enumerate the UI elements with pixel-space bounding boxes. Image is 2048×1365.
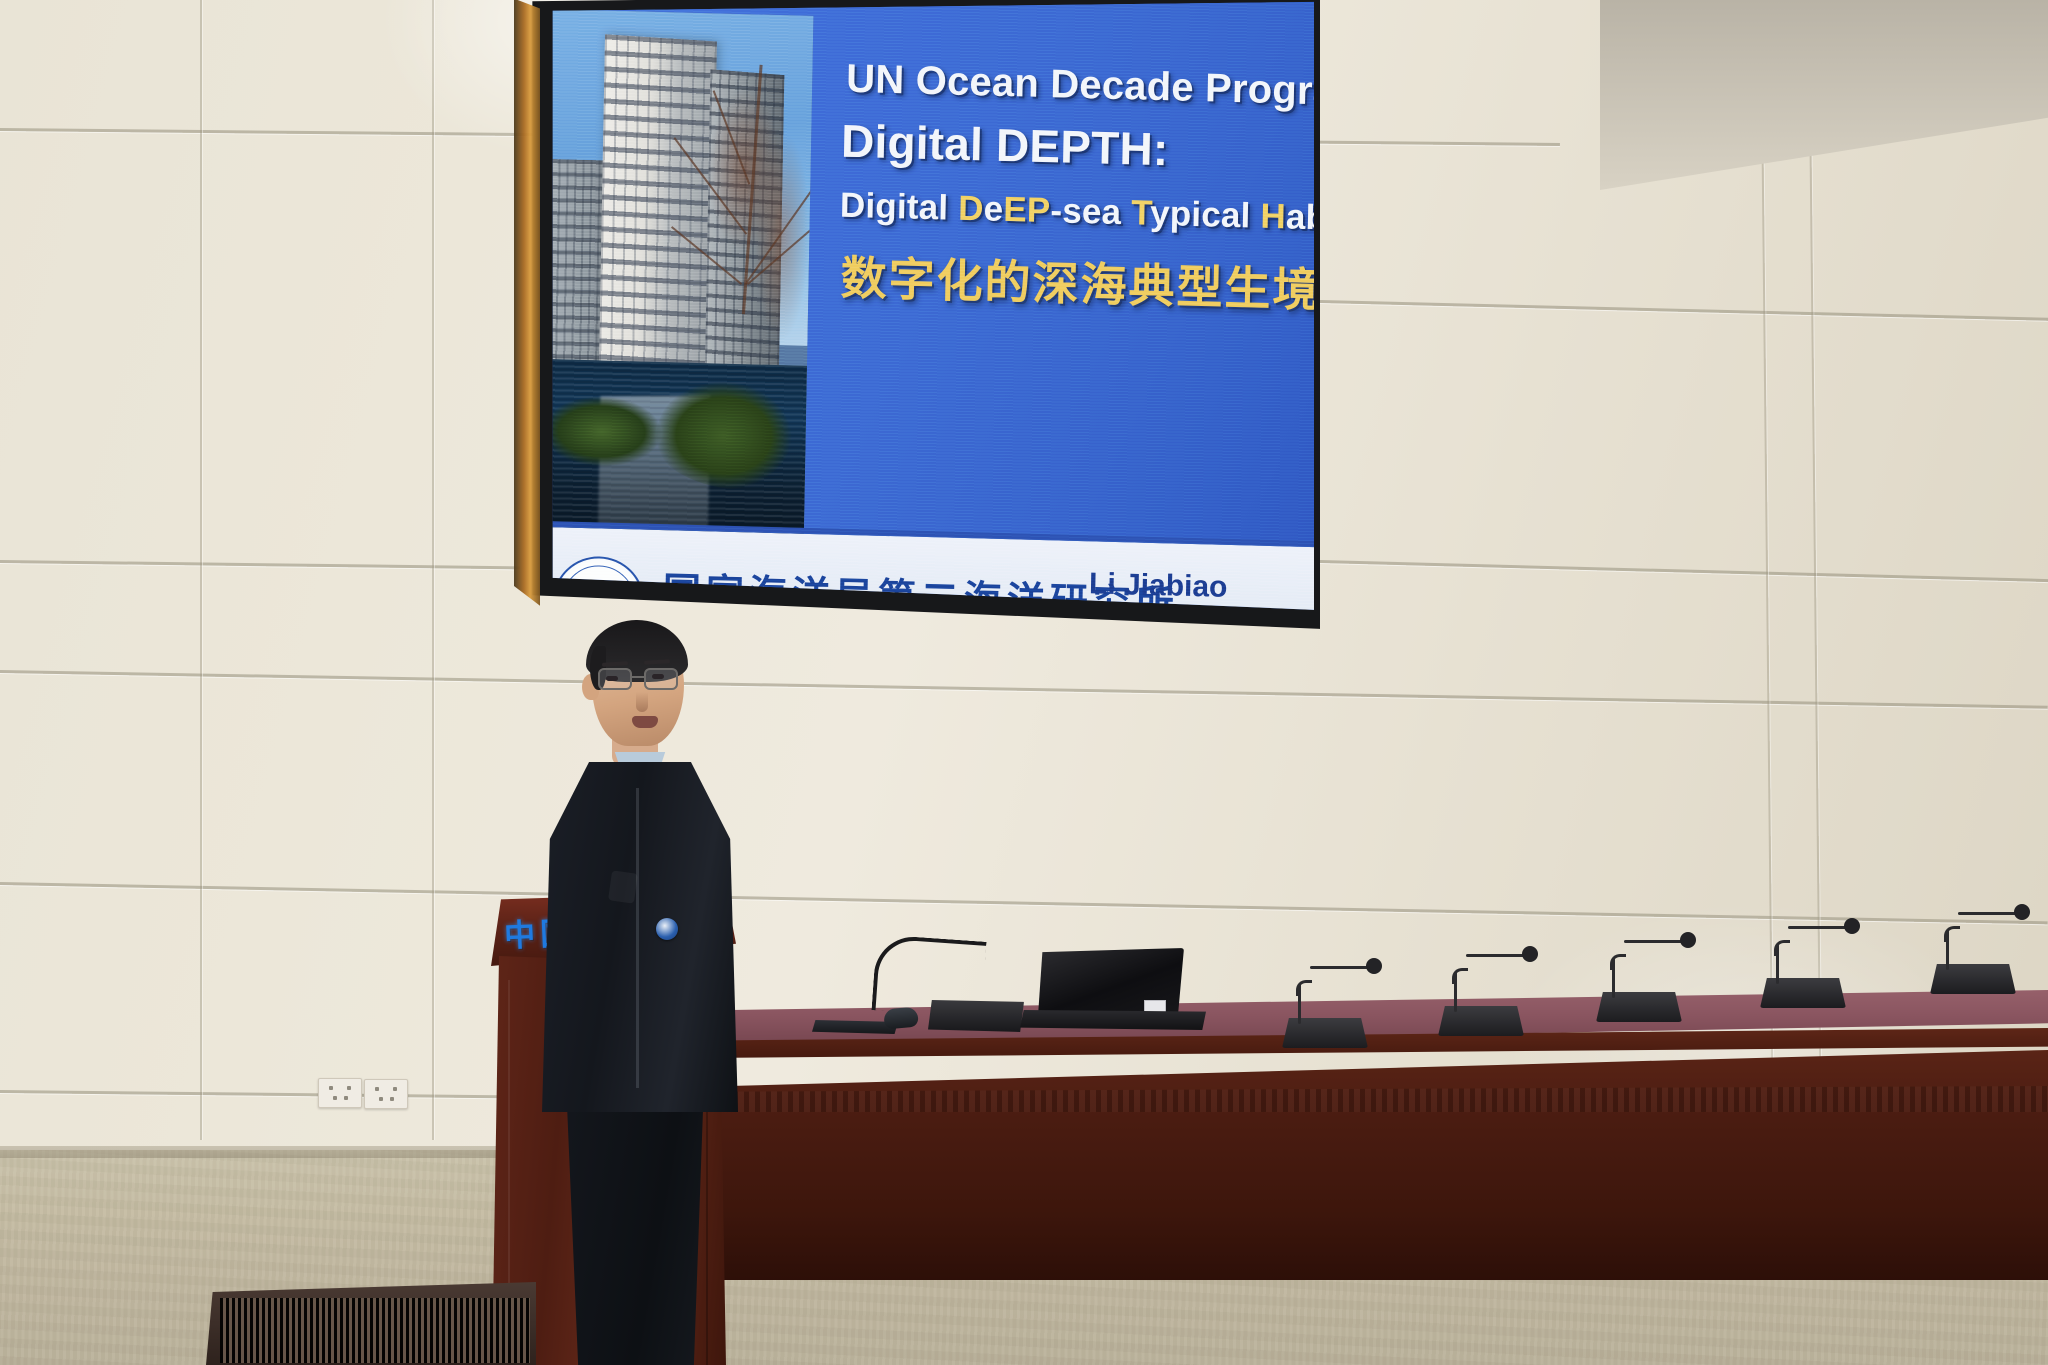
conference-table: [700, 990, 2048, 1270]
floor-loudspeaker: [206, 1282, 536, 1365]
presentation-scene: UN Ocean Decade Program Digital DEPTH: D…: [0, 0, 2048, 1365]
slide-title-line1: UN Ocean Decade Program: [846, 57, 1314, 115]
slide-text-block: UN Ocean Decade Program Digital DEPTH: D…: [836, 51, 1314, 321]
wall-outlet-left[interactable]: [318, 1078, 362, 1108]
slide-subtitle: Digital DeEP-sea Typical Habitats: [840, 186, 1314, 239]
mouse[interactable]: [883, 1007, 919, 1030]
slide-title-chinese: 数字化的深海典型生境: [840, 242, 1314, 321]
jacket-zipper: [636, 788, 639, 1088]
presenter-mouth: [632, 716, 658, 728]
slide-title-line2: Digital DEPTH:: [841, 114, 1314, 181]
building-photo: [535, 9, 813, 576]
presenter-name: Li Jiabiao: [1089, 567, 1228, 605]
tree: [689, 53, 814, 386]
jacket-pocket: [608, 870, 638, 903]
projection-screen[interactable]: UN Ocean Decade Program Digital DEPTH: D…: [508, 0, 1320, 652]
presenter-jacket: [542, 762, 738, 1112]
ceiling: [1600, 0, 2048, 190]
screen-display: UN Ocean Decade Program Digital DEPTH: D…: [534, 0, 1314, 638]
laptop-base: [1020, 1010, 1206, 1030]
presenter: [540, 612, 740, 1112]
presenter-nose: [636, 692, 648, 712]
desk-control-box[interactable]: [928, 1000, 1024, 1032]
laptop[interactable]: [1020, 948, 1210, 1036]
wall-outlet-right[interactable]: [364, 1079, 408, 1109]
screen-side-trim: [514, 0, 540, 652]
slide-content: UN Ocean Decade Program Digital DEPTH: D…: [534, 0, 1314, 638]
lapel-badge: [656, 918, 678, 940]
presenter-legs: [560, 1082, 710, 1365]
